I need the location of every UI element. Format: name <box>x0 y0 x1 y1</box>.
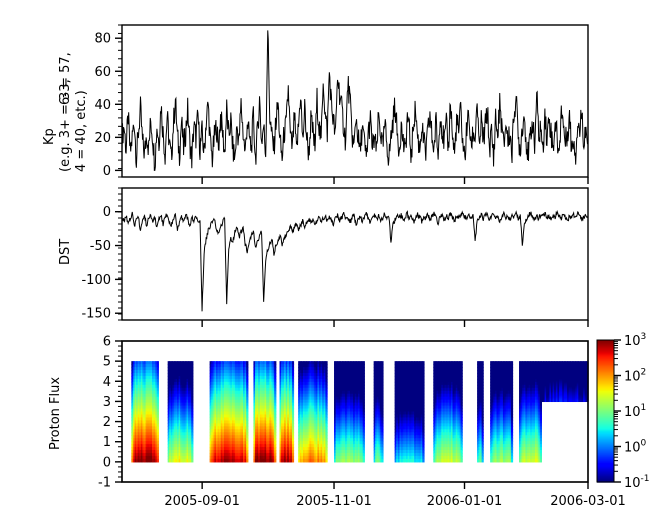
colorbar: 10-1100101102103 <box>597 332 650 491</box>
dst-panel: 0-50-100-150 <box>81 188 588 327</box>
dst-trace <box>122 212 587 312</box>
xtick-label: 2006-01-01 <box>427 494 503 509</box>
svg-text:0: 0 <box>103 164 111 179</box>
colorbar-tick-label: 102 <box>624 368 646 385</box>
proton-flux-panel: -101234562005-09-012005-11-012006-01-012… <box>98 335 626 510</box>
svg-text:40: 40 <box>94 98 111 113</box>
svg-text:2: 2 <box>103 415 111 430</box>
flux-ylabel: Proton Flux <box>48 377 63 450</box>
svg-text:6: 6 <box>103 335 111 350</box>
plot-svg: 0204060800-50-100-150-101234562005-09-01… <box>0 0 665 523</box>
xtick-label: 2005-11-01 <box>296 494 372 509</box>
svg-text:3: 3 <box>103 395 111 410</box>
kp-panel: 020406080 <box>94 25 588 184</box>
svg-text:-150: -150 <box>81 307 111 322</box>
colorbar-tick-label: 103 <box>624 332 646 349</box>
colorbar-tick-label: 100 <box>624 439 647 456</box>
svg-text:-50: -50 <box>90 239 111 254</box>
xtick-label: 2006-03-01 <box>550 494 626 509</box>
svg-text:1: 1 <box>103 435 111 450</box>
kp-ylabel-line-3: 6- = 57, <box>58 52 73 105</box>
svg-text:60: 60 <box>94 65 111 80</box>
svg-text:-100: -100 <box>81 273 111 288</box>
svg-text:5: 5 <box>103 355 111 370</box>
kp-ylabel-line-4: 4 = 40, etc.) <box>74 90 89 172</box>
kp-trace <box>122 30 587 170</box>
svg-text:-1: -1 <box>98 476 111 491</box>
spectrogram-cells <box>131 361 588 462</box>
kp-ylabel-line-1: Kp <box>42 128 57 145</box>
figure-canvas: 0204060800-50-100-150-101234562005-09-01… <box>0 0 665 523</box>
colorbar-tick-label: 101 <box>624 403 646 420</box>
svg-text:80: 80 <box>94 32 111 47</box>
svg-text:0: 0 <box>103 205 111 220</box>
svg-text:20: 20 <box>94 131 111 146</box>
svg-text:0: 0 <box>103 455 111 470</box>
svg-text:4: 4 <box>103 375 111 390</box>
colorbar-tick-label: 10-1 <box>624 474 650 491</box>
xtick-label: 2005-09-01 <box>164 494 240 509</box>
dst-ylabel: DST <box>58 239 73 265</box>
